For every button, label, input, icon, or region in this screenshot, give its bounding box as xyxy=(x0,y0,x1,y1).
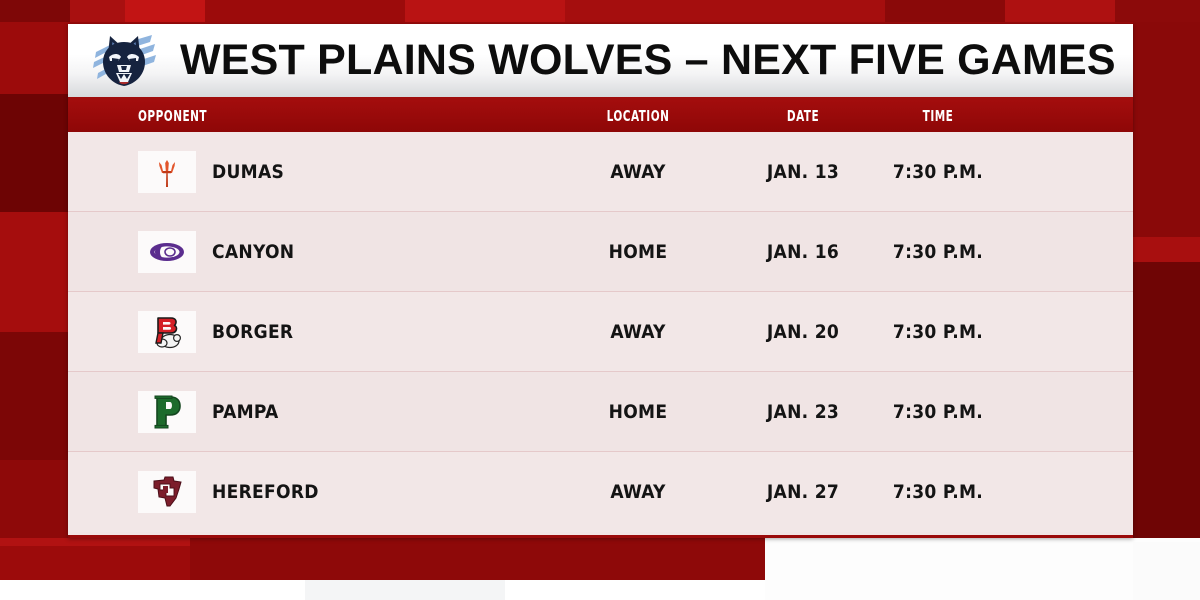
cell-opponent: DUMAS xyxy=(138,132,538,212)
title-bar: WEST PLAINS WOLVES – NEXT FIVE GAMES xyxy=(68,24,1133,100)
cell-time: 7:30 P.M. xyxy=(838,452,1038,532)
bg-block xyxy=(0,212,70,332)
bg-block xyxy=(0,22,70,94)
bg-block xyxy=(565,0,885,22)
column-header-date: DATE xyxy=(733,100,873,132)
bg-block xyxy=(885,0,1005,22)
opponent-name: HEREFORD xyxy=(212,481,319,503)
opponent-name: BORGER xyxy=(212,321,293,343)
table-row: PAMPA HOME JAN. 23 7:30 P.M. xyxy=(68,372,1133,452)
bg-block xyxy=(0,460,70,545)
opponent-name: DUMAS xyxy=(212,161,284,183)
wolf-head-logo-icon xyxy=(68,23,180,99)
cell-location: AWAY xyxy=(548,452,728,532)
cell-time: 7:30 P.M. xyxy=(838,292,1038,372)
bg-block xyxy=(190,538,765,580)
schedule-table-body: DUMAS AWAY JAN. 13 7:30 P.M. CANYON HOM xyxy=(68,132,1133,535)
cell-location: HOME xyxy=(548,212,728,292)
bg-block xyxy=(0,332,70,460)
bg-block xyxy=(305,580,505,600)
page-title: WEST PLAINS WOLVES – NEXT FIVE GAMES xyxy=(180,36,1156,85)
table-row: DUMAS AWAY JAN. 13 7:30 P.M. xyxy=(68,132,1133,212)
cell-location: AWAY xyxy=(548,292,728,372)
column-header-time: TIME xyxy=(860,100,1016,132)
bg-block xyxy=(1133,237,1200,262)
bg-block xyxy=(1115,0,1200,22)
pampa-harvesters-p-icon xyxy=(138,391,196,433)
cell-opponent: CANYON xyxy=(138,212,538,292)
table-row: BORGER AWAY JAN. 20 7:30 P.M. xyxy=(68,292,1133,372)
bg-block xyxy=(125,0,205,22)
bg-block xyxy=(70,0,125,22)
bg-block xyxy=(0,94,70,212)
cell-time: 7:30 P.M. xyxy=(838,132,1038,212)
table-row: HEREFORD AWAY JAN. 27 7:30 P.M. xyxy=(68,452,1133,532)
cell-opponent: HEREFORD xyxy=(138,452,538,532)
column-header-opponent: OPPONENT xyxy=(138,100,207,132)
cell-opponent: PAMPA xyxy=(138,372,538,452)
cell-opponent: BORGER xyxy=(138,292,538,372)
bg-block xyxy=(1133,262,1200,542)
bg-block xyxy=(405,0,565,22)
canyon-eagles-c-icon xyxy=(138,231,196,273)
dumas-demons-pitchfork-icon xyxy=(138,151,196,193)
table-row: CANYON HOME JAN. 16 7:30 P.M. xyxy=(68,212,1133,292)
hereford-whitefaces-texas-icon xyxy=(138,471,196,513)
opponent-name: PAMPA xyxy=(212,401,279,423)
bg-block xyxy=(1005,0,1115,22)
opponent-name: CANYON xyxy=(212,241,294,263)
cell-time: 7:30 P.M. xyxy=(838,212,1038,292)
cell-location: AWAY xyxy=(548,132,728,212)
bg-block xyxy=(205,0,405,22)
column-header-location: LOCATION xyxy=(568,100,708,132)
borger-bulldogs-b-icon xyxy=(138,311,196,353)
bg-block xyxy=(0,0,70,22)
table-column-header: OPPONENT LOCATION DATE TIME xyxy=(68,100,1133,132)
cell-time: 7:30 P.M. xyxy=(838,372,1038,452)
schedule-graphic-panel: WEST PLAINS WOLVES – NEXT FIVE GAMES OPP… xyxy=(68,24,1133,538)
bg-block xyxy=(1133,542,1200,600)
cell-location: HOME xyxy=(548,372,728,452)
